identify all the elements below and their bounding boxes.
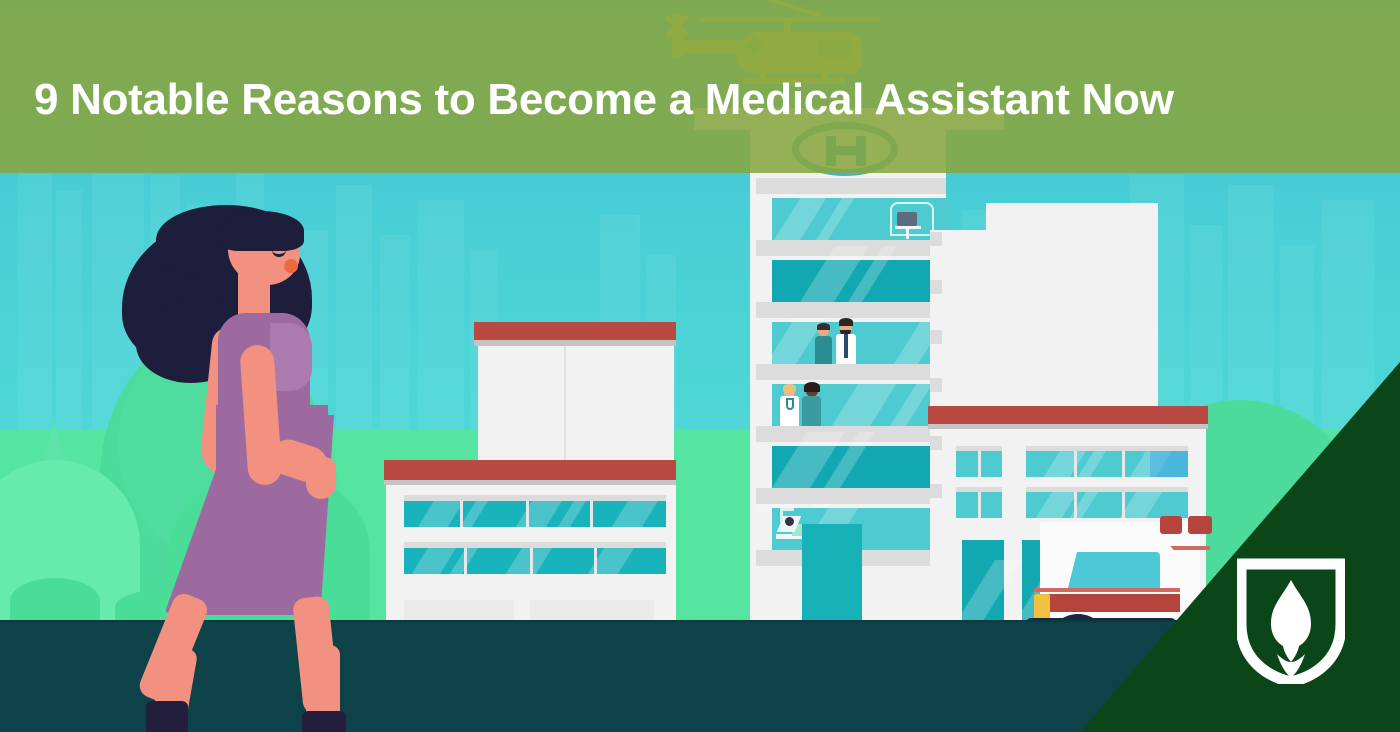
tower-window-floor-5 xyxy=(772,384,952,426)
window-strip-right-upper xyxy=(1026,451,1188,477)
ambulance-window xyxy=(1094,552,1160,592)
walking-woman-figure xyxy=(120,205,440,730)
ambulance-red-stripe xyxy=(1034,594,1180,612)
rasmussen-shield-flame-logo[interactable] xyxy=(1237,558,1345,684)
roof-red-upper-left xyxy=(474,322,676,340)
window-strip-left-upper xyxy=(404,501,666,527)
right-wing-door-1[interactable] xyxy=(962,540,1004,622)
window-right-small-2 xyxy=(956,492,1002,518)
window-strip-left-lower xyxy=(404,548,666,574)
window-right-small-1 xyxy=(956,451,1002,477)
woman-cheek-blush xyxy=(284,259,298,273)
ambulance-emergency-light-right xyxy=(1188,516,1212,534)
floor-band xyxy=(756,178,946,194)
header-green-band: 9 Notable Reasons to Become a Medical As… xyxy=(0,0,1400,173)
window-strip-right-lower xyxy=(1026,492,1188,518)
roof-red-right xyxy=(928,406,1208,424)
woman-hand xyxy=(306,457,336,499)
tower-entrance-door[interactable] xyxy=(802,524,862,622)
tower-window-floor-6 xyxy=(772,446,952,488)
tower-window-floor-3 xyxy=(772,260,952,302)
hero-banner: 9 Notable Reasons to Become a Medical As… xyxy=(0,0,1400,732)
ambulance-emergency-light-left xyxy=(1160,516,1182,534)
page-title: 9 Notable Reasons to Become a Medical As… xyxy=(0,76,1400,124)
tower-window-floor-4 xyxy=(772,322,952,364)
